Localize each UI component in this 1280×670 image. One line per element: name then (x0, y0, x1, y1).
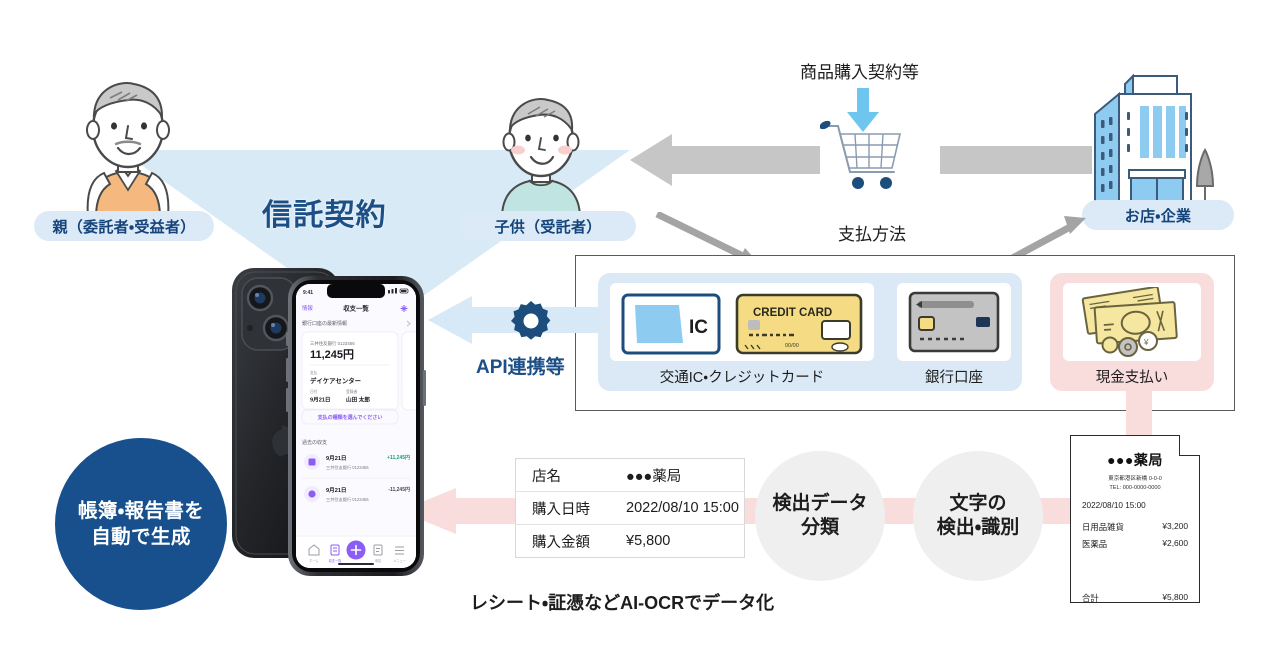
ocr-result-table: 店名 ●●●薬局 購入日時 2022/08/10 15:00 購入金額 ¥5,8… (515, 458, 745, 558)
phone-mockup: 9:41 情報 収支一覧 銀行口座の最新情報 (232, 262, 464, 592)
parent-label: 親（委託者・受益者） (34, 211, 214, 241)
svg-text:山田 太郎: 山田 太郎 (346, 396, 370, 404)
pink-connector-vertical (1126, 391, 1152, 437)
badge-line2: 自動で生成 (78, 524, 204, 550)
table-row: 購入金額 ¥5,800 (516, 525, 745, 558)
ocr-key-amount: 購入金額 (516, 525, 611, 558)
payment-method-label: 支払方法 (838, 220, 906, 245)
payment-card-cash[interactable]: ¥ (1063, 283, 1201, 361)
store-label: お店・企業 (1082, 200, 1234, 230)
store-label-text: お店・企業 (1125, 205, 1192, 226)
api-link-label: API連携等 (476, 352, 565, 379)
cash-bills-coins-icon: ¥ (1072, 287, 1192, 357)
svg-text:ホーム: ホーム (309, 558, 318, 563)
svg-text:9月21日: 9月21日 (326, 454, 347, 462)
child-illustration (482, 90, 600, 218)
svg-text:銀行口座の最新情報: 銀行口座の最新情報 (302, 320, 347, 327)
diagram-canvas: 信託契約 (0, 0, 1280, 670)
auto-generate-badge: 帳簿・報告書を 自動で生成 (55, 438, 227, 610)
svg-text:申請: 申請 (375, 558, 382, 563)
detect-line1: 文字の (937, 492, 1019, 516)
receipt-line-item: 日用品雑貨 ¥3,200 (1082, 521, 1188, 533)
parent-label-text: 親（委託者・受益者） (52, 216, 195, 237)
detect-line2: 検出・識別 (937, 516, 1019, 540)
classify-line2: 分類 (772, 516, 867, 540)
receipt-total-amount: ¥5,800 (1162, 592, 1188, 604)
child-label: 子供（受託者） (460, 211, 636, 241)
phone-screen: 9:41 情報 収支一覧 銀行口座の最新情報 (296, 284, 428, 568)
receipt-item-name: 日用品雑貨 (1082, 521, 1124, 533)
receipt-item-name: 医薬品 (1082, 538, 1107, 550)
receipt-tel: TEL: 000-0000-0000 (1082, 484, 1188, 493)
svg-text:三井住友銀行 0123456: 三井住友銀行 0123456 (310, 340, 355, 347)
process-circle-classify: 検出データ 分類 (755, 451, 885, 581)
ocr-key-shop: 店名 (516, 459, 611, 492)
ocr-value-date: 2022/08/10 15:00 (610, 492, 745, 525)
bank-card-icon (906, 289, 1002, 355)
payment-caption-bank: 銀行口座 (897, 366, 1011, 387)
svg-text:9月21日: 9月21日 (326, 486, 347, 494)
receipt-item-amount: ¥2,600 (1162, 538, 1188, 550)
svg-text:9:41: 9:41 (303, 290, 313, 296)
svg-text:登録者: 登録者 (346, 389, 358, 394)
svg-text:情報: 情報 (302, 304, 313, 312)
receipt-item-amount: ¥3,200 (1162, 521, 1188, 533)
ocr-caption: レシート・証憑などAI-OCRでデータ化 (470, 589, 774, 615)
grey-arrow-tail (940, 146, 1092, 174)
svg-text:支払の種類を選んでください: 支払の種類を選んでください (318, 414, 383, 421)
store-illustration (1085, 68, 1235, 208)
table-row: 店名 ●●●薬局 (516, 459, 745, 492)
receipt-fold-corner (1179, 435, 1200, 456)
ocr-key-date: 購入日時 (516, 492, 611, 525)
purchase-contract-label: 商品購入契約等 (800, 58, 919, 83)
payment-card-ic-credit[interactable]: IC CREDIT CARD 00/00 (610, 283, 874, 361)
gear-icon (510, 300, 552, 342)
payment-card-bank[interactable] (897, 283, 1011, 361)
svg-text:¥: ¥ (1143, 338, 1149, 347)
svg-text:デイケアセンター: デイケアセンター (310, 376, 361, 385)
receipt-datetime: 2022/08/10 15:00 (1082, 501, 1188, 510)
receipt-shop-name: ●●●薬局 (1082, 450, 1188, 470)
grey-arrow-left (630, 134, 820, 186)
svg-text:IC: IC (689, 317, 708, 338)
svg-text:過去の収支: 過去の収支 (302, 439, 327, 446)
receipt-line-item: 医薬品 ¥2,600 (1082, 538, 1188, 550)
svg-text:メニュー: メニュー (393, 559, 406, 563)
child-label-text: 子供（受託者） (494, 216, 601, 237)
svg-text:日付: 日付 (310, 389, 318, 394)
svg-text:CREDIT CARD: CREDIT CARD (753, 307, 832, 319)
payment-caption-cash: 現金支払い (1063, 366, 1201, 387)
svg-text:三井住友銀行 0123456: 三井住友銀行 0123456 (326, 496, 369, 503)
credit-card-icon: CREDIT CARD 00/00 (737, 295, 861, 353)
parent-illustration (58, 72, 198, 217)
table-row: 購入日時 2022/08/10 15:00 (516, 492, 745, 525)
trust-contract-label: 信託契約 (262, 190, 387, 234)
receipt-total-label: 合計 (1082, 592, 1099, 604)
payment-caption-ic-credit: 交通IC・クレジットカード (610, 366, 874, 387)
receipt-paper: ●●●薬局 東京都港区新橋 0-0-0 TEL: 000-0000-0000 2… (1070, 435, 1200, 603)
ocr-value-shop: ●●●薬局 (610, 459, 745, 492)
ocr-value-amount: ¥5,800 (610, 525, 745, 558)
svg-text:収支一覧: 収支一覧 (343, 304, 369, 313)
process-circle-detect: 文字の 検出・識別 (913, 451, 1043, 581)
receipt-total-row: 合計 ¥5,800 (1082, 592, 1188, 604)
svg-text:11,245円: 11,245円 (310, 348, 354, 361)
svg-text:00/00: 00/00 (785, 343, 799, 349)
svg-text:+11,245円: +11,245円 (387, 454, 410, 461)
ic-card-icon: IC CREDIT CARD 00/00 (617, 287, 867, 357)
classify-line1: 検出データ (772, 492, 867, 516)
receipt-address: 東京都港区新橋 0-0-0 (1082, 475, 1188, 484)
shopping-cart-icon (820, 118, 910, 194)
svg-text:-11,245円: -11,245円 (388, 486, 410, 493)
badge-line1: 帳簿・報告書を (78, 498, 204, 524)
svg-text:支払: 支払 (310, 370, 318, 375)
svg-text:9月21日: 9月21日 (310, 396, 331, 404)
svg-text:収支一覧: 収支一覧 (329, 558, 343, 563)
svg-text:三井住友銀行 0123456: 三井住友銀行 0123456 (326, 464, 369, 471)
